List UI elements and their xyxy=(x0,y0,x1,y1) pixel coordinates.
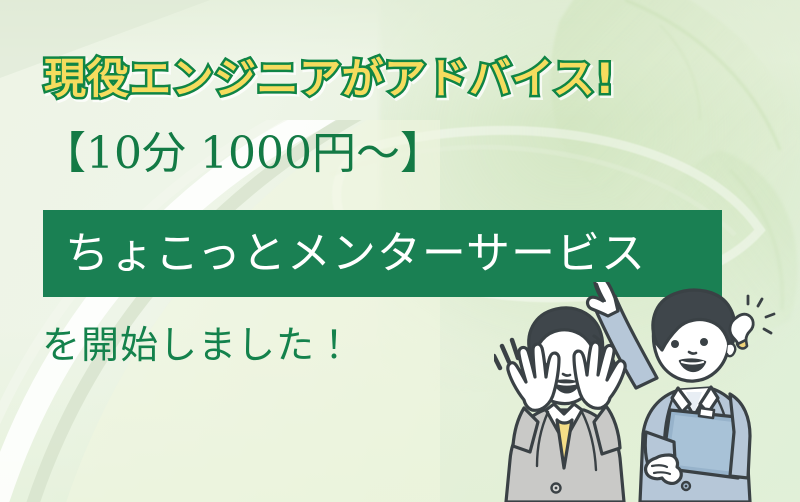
two-business-people-illustration xyxy=(494,282,794,502)
service-name-text: ちょこっとメンターサービス xyxy=(43,232,646,276)
lightbulb-icon xyxy=(730,296,774,348)
promo-banner: 現役エンジニアがアドバイス! 現役エンジニアがアドバイス! 【10分 1000円… xyxy=(0,0,800,502)
headline-primary: 現役エンジニアがアドバイス! xyxy=(44,56,615,101)
headline-price: 【10分 1000円〜】 xyxy=(42,130,444,178)
tail-text: を開始しました！ xyxy=(42,325,354,367)
